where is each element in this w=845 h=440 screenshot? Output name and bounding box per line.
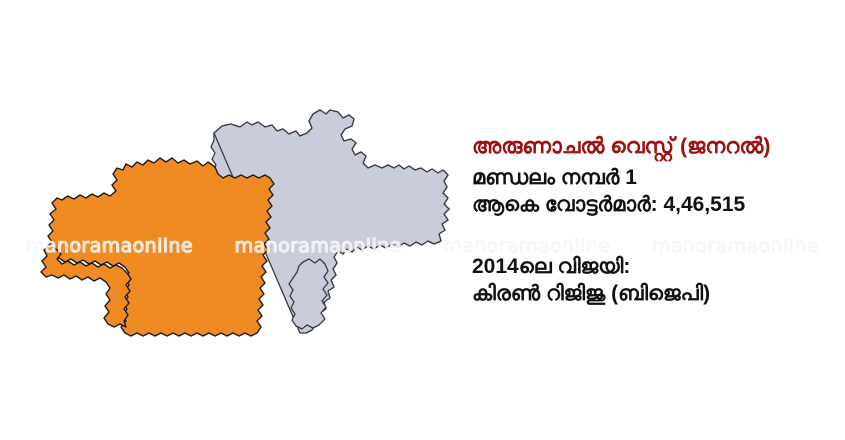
total-voters: ആകെ വോട്ടർമാർ: 4,46,515: [472, 191, 832, 218]
info-panel-spacer: [472, 219, 832, 253]
constituency-title: അരുണാചൽ വെസ്റ്റ് (ജനറൽ): [472, 133, 832, 161]
constituency-info-panel: അരുണാചൽ വെസ്റ്റ് (ജനറൽ) മണ്ഡലം നമ്പർ 1 ആ…: [472, 133, 832, 307]
map-container[interactable]: [0, 0, 470, 440]
map-region-arunachal-west[interactable]: [47, 158, 274, 336]
winner-name: കിരൺ റിജിജു (ബിജെപി): [472, 280, 832, 307]
infographic-canvas: manoramaonline manoramaonline manoramaon…: [0, 0, 845, 440]
constituency-number: മണ്ഡലം നമ്പർ 1: [472, 164, 832, 191]
winner-heading: 2014ലെ വിജയി:: [472, 253, 832, 280]
constituency-map-svg[interactable]: [0, 0, 470, 440]
